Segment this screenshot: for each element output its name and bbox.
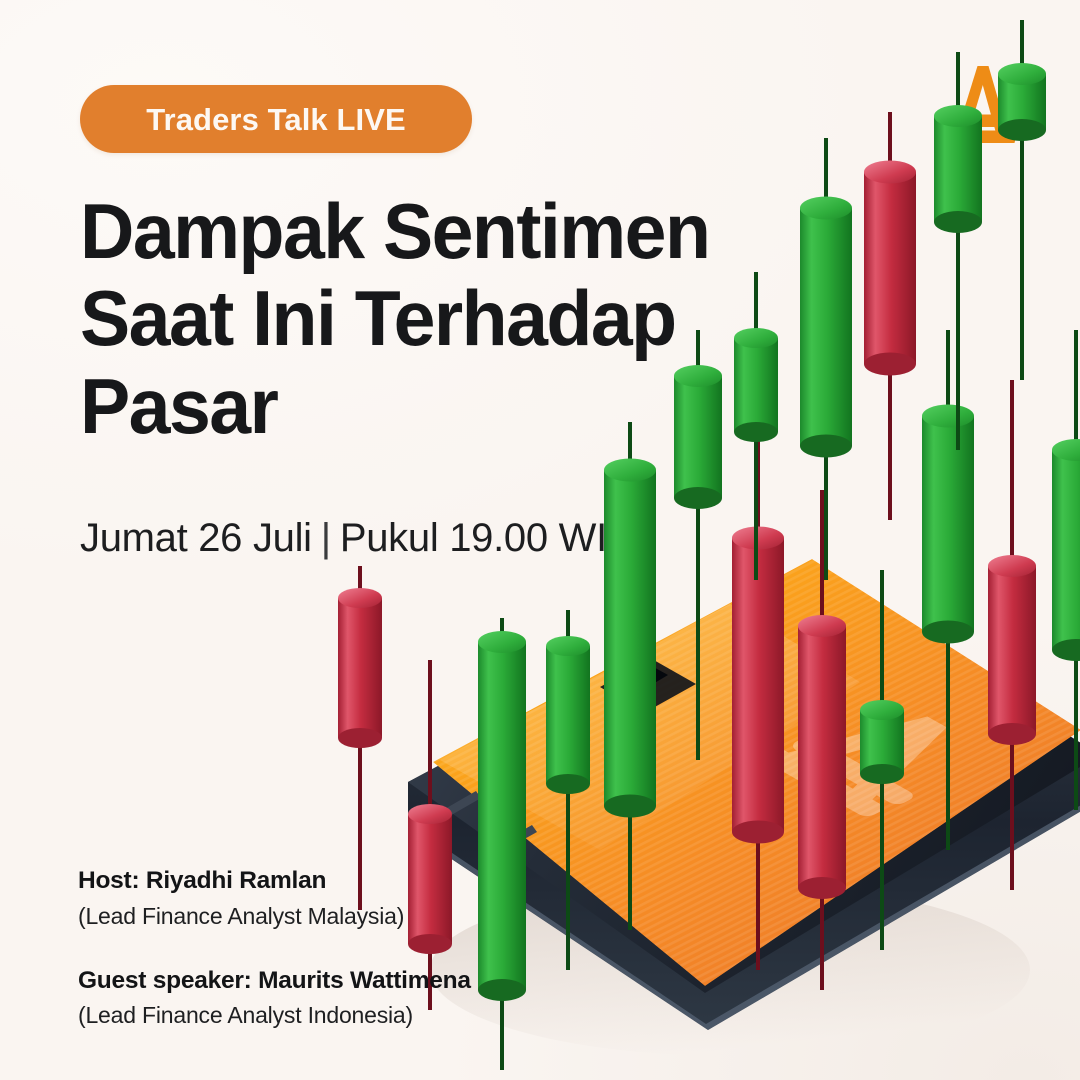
candle-14 xyxy=(800,138,852,580)
candle-16 xyxy=(934,52,982,450)
candle-1 xyxy=(338,566,382,910)
credit-host-role: (Lead Finance Analyst Malaysia) xyxy=(78,902,548,932)
credit-guest: Guest speaker: Maurits Wattimena (Lead F… xyxy=(78,966,548,1032)
credit-guest-name: Guest speaker: Maurits Wattimena xyxy=(78,966,548,997)
live-badge-label: Traders Talk LIVE xyxy=(146,104,406,135)
promo-poster: Traders Talk LIVE Dampak Sentimen Saat I… xyxy=(0,0,1080,1080)
candle-15 xyxy=(864,112,916,520)
live-badge[interactable]: Traders Talk LIVE xyxy=(80,85,472,153)
credit-guest-role: (Lead Finance Analyst Indonesia) xyxy=(78,1001,548,1031)
candle-17 xyxy=(998,20,1046,380)
candlestick-chart-3d-upper-icon xyxy=(640,20,1080,580)
credit-host: Host: Riyadhi Ramlan (Lead Finance Analy… xyxy=(78,866,548,932)
candle-13 xyxy=(734,272,778,580)
credits-block: Host: Riyadhi Ramlan (Lead Finance Analy… xyxy=(78,866,548,1031)
schedule-date: Jumat 26 Juli xyxy=(80,516,312,560)
credit-host-name: Host: Riyadhi Ramlan xyxy=(78,866,548,897)
